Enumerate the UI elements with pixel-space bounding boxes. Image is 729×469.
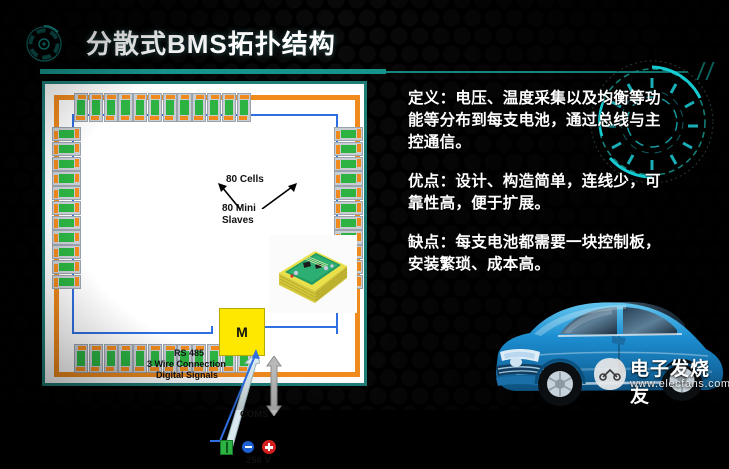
cell-tab bbox=[135, 367, 144, 371]
cell-tab bbox=[357, 203, 361, 212]
cell-core bbox=[59, 189, 74, 197]
label-rs485: RS 485 bbox=[174, 348, 204, 358]
cell-tab bbox=[75, 174, 79, 183]
cell-core bbox=[225, 100, 233, 115]
cell-core bbox=[136, 100, 144, 115]
cell-tab bbox=[357, 277, 361, 286]
label-digital-signals: Digital Signals bbox=[156, 370, 218, 380]
cell-tab bbox=[357, 159, 361, 168]
cell-tab bbox=[151, 346, 160, 350]
cell-tab bbox=[91, 367, 100, 371]
cell-tab bbox=[122, 95, 131, 99]
label-80-cells: 80 Cells bbox=[226, 174, 264, 185]
cell-core bbox=[59, 248, 74, 256]
cell-tab bbox=[107, 346, 116, 350]
cell-core bbox=[59, 160, 74, 168]
cell-tab bbox=[106, 367, 115, 371]
cell-core bbox=[107, 100, 115, 115]
cell-tab bbox=[92, 346, 101, 350]
battery-cell bbox=[52, 245, 81, 259]
paragraph-definition: 定义：电压、温度采集以及均衡等功能等分布到每支电池，通过总线与主控通信。 bbox=[408, 88, 668, 154]
cell-column-left bbox=[52, 127, 81, 290]
cell-tab bbox=[75, 262, 79, 271]
cell-core bbox=[59, 204, 74, 212]
cell-tab bbox=[54, 190, 58, 199]
cell-core bbox=[77, 351, 85, 366]
battery-cell bbox=[334, 171, 363, 185]
cell-core bbox=[210, 100, 218, 115]
cell-tab bbox=[121, 116, 130, 120]
cell-tab bbox=[336, 175, 340, 184]
battery-cell bbox=[334, 142, 363, 156]
battery-cell bbox=[133, 93, 147, 122]
cell-tab bbox=[122, 346, 131, 350]
positive-terminal-icon bbox=[262, 440, 276, 454]
cell-tab bbox=[336, 160, 340, 169]
cell-core bbox=[59, 219, 74, 227]
battery-cell bbox=[334, 157, 363, 171]
battery-cell bbox=[52, 171, 81, 185]
battery-cell bbox=[52, 275, 81, 289]
comm-bus-bottom-left bbox=[72, 332, 212, 334]
cell-row-top bbox=[74, 93, 251, 122]
cell-tab bbox=[75, 159, 79, 168]
cell-tab bbox=[357, 174, 361, 183]
hud-ring-icon bbox=[22, 22, 66, 66]
cell-tab bbox=[75, 129, 79, 138]
cell-tab bbox=[135, 116, 144, 120]
cell-tab bbox=[91, 116, 100, 120]
battery-cell bbox=[89, 344, 103, 373]
cell-tab bbox=[166, 95, 175, 99]
cell-tab bbox=[54, 145, 58, 154]
header-divider-accent bbox=[40, 69, 386, 74]
cell-tab bbox=[211, 95, 220, 99]
battery-cell bbox=[334, 216, 363, 230]
cell-tab bbox=[54, 234, 58, 243]
cell-core bbox=[136, 351, 144, 366]
cell-core bbox=[92, 351, 100, 366]
negative-terminal-icon bbox=[242, 441, 254, 453]
cell-tab bbox=[336, 219, 340, 228]
cell-core bbox=[341, 160, 356, 168]
cell-tab bbox=[137, 95, 146, 99]
cell-core bbox=[59, 174, 74, 182]
cell-core bbox=[77, 100, 85, 115]
cell-tab bbox=[151, 95, 160, 99]
battery-cell bbox=[177, 93, 191, 122]
cell-tab bbox=[75, 233, 79, 242]
battery-cell bbox=[163, 93, 177, 122]
cell-core bbox=[121, 100, 129, 115]
cell-tab bbox=[239, 116, 248, 120]
cell-tab bbox=[78, 346, 87, 350]
cell-core bbox=[341, 174, 356, 182]
cell-tab bbox=[76, 116, 85, 120]
battery-cell bbox=[52, 127, 81, 141]
watermark-url: www.elecfans.com bbox=[630, 378, 729, 390]
cell-core bbox=[341, 189, 356, 197]
cell-tab bbox=[240, 95, 249, 99]
cell-tab bbox=[54, 249, 58, 258]
cell-tab bbox=[106, 116, 115, 120]
cell-tab bbox=[75, 218, 79, 227]
cell-tab bbox=[357, 218, 361, 227]
cell-core bbox=[341, 130, 356, 138]
elecfans-logo-icon bbox=[592, 356, 628, 392]
battery-cell bbox=[133, 344, 147, 373]
cell-tab bbox=[194, 116, 203, 120]
battery-cell bbox=[52, 157, 81, 171]
cell-tab bbox=[54, 264, 58, 273]
cell-core bbox=[92, 100, 100, 115]
cell-core bbox=[107, 351, 115, 366]
cell-tab bbox=[336, 204, 340, 213]
comm-bus-riser bbox=[211, 326, 213, 334]
label-mini-slaves-line1: 80 Mini bbox=[222, 203, 256, 215]
battery-cell bbox=[334, 186, 363, 200]
battery-cell bbox=[52, 186, 81, 200]
ground-symbol-icon bbox=[226, 453, 246, 469]
cell-tab bbox=[54, 219, 58, 228]
battery-cell bbox=[52, 201, 81, 215]
cell-tab bbox=[76, 367, 85, 371]
cell-core bbox=[59, 233, 74, 241]
cell-tab bbox=[75, 247, 79, 256]
cell-tab bbox=[75, 188, 79, 197]
cell-tab bbox=[336, 131, 340, 140]
cell-tab bbox=[225, 95, 234, 99]
cell-tab bbox=[181, 95, 190, 99]
cell-tab bbox=[75, 277, 79, 286]
cell-tab bbox=[107, 95, 116, 99]
battery-cell bbox=[52, 142, 81, 156]
cell-tab bbox=[180, 116, 189, 120]
cell-tab bbox=[75, 144, 79, 153]
cell-tab bbox=[121, 367, 130, 371]
cell-core bbox=[59, 145, 74, 153]
cell-core bbox=[59, 263, 74, 271]
cell-core bbox=[180, 100, 188, 115]
label-mini-slaves: 80 Mini Slaves bbox=[222, 203, 256, 227]
battery-cell bbox=[74, 344, 88, 373]
cell-core bbox=[341, 204, 356, 212]
cell-core bbox=[151, 100, 159, 115]
cell-tab bbox=[75, 203, 79, 212]
cell-tab bbox=[209, 116, 218, 120]
cell-core bbox=[59, 278, 74, 286]
battery-cell bbox=[192, 93, 206, 122]
cell-tab bbox=[54, 175, 58, 184]
cell-tab bbox=[336, 145, 340, 154]
cell-tab bbox=[357, 144, 361, 153]
cell-core bbox=[121, 351, 129, 366]
label-voltage: 256 V bbox=[246, 455, 271, 466]
cell-tab bbox=[357, 233, 361, 242]
battery-cell bbox=[52, 216, 81, 230]
cell-tab bbox=[78, 95, 87, 99]
bms-topology-diagram: M 80 Cells 80 Mini Slaves RS 485 bbox=[42, 81, 367, 386]
cell-tab bbox=[336, 190, 340, 199]
cell-tab bbox=[196, 95, 205, 99]
label-wire-connection: 3 Wire Connection bbox=[147, 359, 226, 369]
battery-cell bbox=[52, 260, 81, 274]
cell-tab bbox=[137, 346, 146, 350]
cell-tab bbox=[357, 188, 361, 197]
paragraph-disadvantages: 缺点：每支电池都需要一块控制板，安装繁琐、成本高。 bbox=[408, 232, 668, 276]
battery-cell bbox=[74, 93, 88, 122]
cell-core bbox=[240, 100, 248, 115]
battery-module-image bbox=[269, 235, 357, 313]
battery-cell bbox=[148, 93, 162, 122]
cell-tab bbox=[357, 247, 361, 256]
battery-cell bbox=[89, 93, 103, 122]
cell-core bbox=[195, 100, 203, 115]
battery-cell bbox=[52, 230, 81, 244]
cell-tab bbox=[224, 116, 233, 120]
cell-core bbox=[341, 145, 356, 153]
cell-tab bbox=[54, 160, 58, 169]
label-mini-slaves-line2: Slaves bbox=[222, 215, 256, 227]
coms-arrow-icon bbox=[266, 356, 282, 416]
cell-tab bbox=[357, 262, 361, 271]
cell-core bbox=[341, 219, 356, 227]
cell-tab bbox=[54, 204, 58, 213]
battery-cell bbox=[237, 93, 251, 122]
label-coms: COMS bbox=[240, 409, 269, 420]
cell-tab bbox=[54, 278, 58, 287]
cell-tab bbox=[92, 95, 101, 99]
battery-cell bbox=[334, 201, 363, 215]
battery-cell bbox=[118, 93, 132, 122]
description-panel: 定义：电压、温度采集以及均衡等功能等分布到每支电池，通过总线与主控通信。 优点：… bbox=[408, 88, 668, 293]
battery-cell bbox=[334, 127, 363, 141]
cell-tab bbox=[165, 116, 174, 120]
watermark: 电子发烧友 www.elecfans.com bbox=[592, 352, 729, 404]
battery-cell bbox=[207, 93, 221, 122]
battery-cell bbox=[222, 93, 236, 122]
cell-tab bbox=[150, 116, 159, 120]
cell-core bbox=[59, 130, 74, 138]
cell-tab bbox=[54, 131, 58, 140]
cell-core bbox=[166, 100, 174, 115]
battery-cell bbox=[104, 93, 118, 122]
paragraph-advantages: 优点：设计、构造简单，连线少，可靠性高，便于扩展。 bbox=[408, 171, 668, 215]
page-title: 分散式BMS拓扑结构 bbox=[86, 24, 336, 61]
battery-cell bbox=[104, 344, 118, 373]
battery-cell bbox=[118, 344, 132, 373]
cell-tab bbox=[357, 129, 361, 138]
